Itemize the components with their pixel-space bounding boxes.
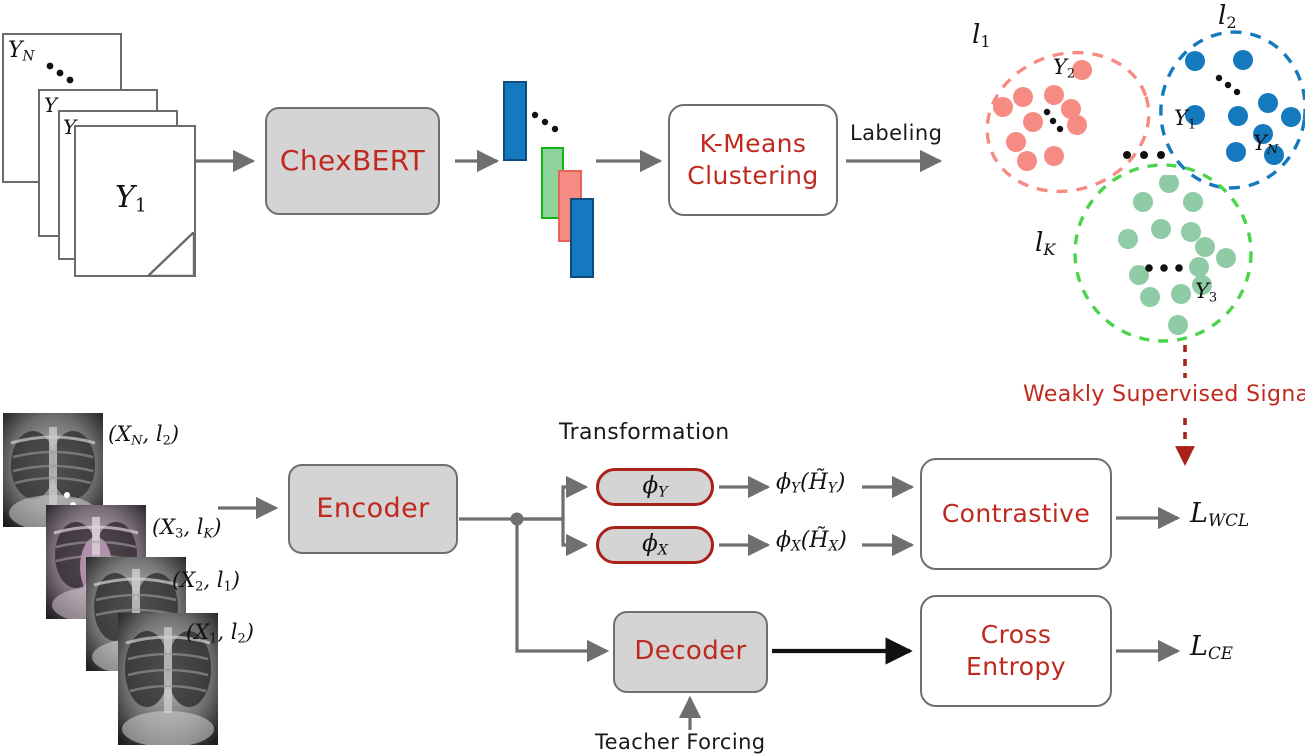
document-label-Y1: Y1 (115, 183, 147, 216)
encoder-label: Encoder (316, 494, 429, 524)
decoder-box[interactable]: Decoder (613, 611, 768, 693)
cluster-l1-point-label-Y2: Y2 (1053, 57, 1075, 80)
contrastive-box[interactable]: Contrastive (920, 458, 1112, 570)
kmeans-clustering-box[interactable]: K-Means Clustering (668, 104, 838, 216)
document-label-mid-2: Y (63, 117, 76, 137)
cluster-label-lK: lK (1035, 230, 1055, 258)
cluster-l2-point-label-YN: YN (1253, 133, 1278, 156)
decoder-label: Decoder (634, 637, 746, 666)
cluster-label-l1: l1 (972, 22, 991, 50)
teacher-forcing-label: Teacher Forcing (595, 731, 766, 753)
cluster-label-l2: l2 (1218, 3, 1237, 31)
xray-label-X1: (X1, l2) (186, 622, 254, 645)
document-label-YN: YN (8, 40, 34, 64)
xray-label-X3: (X3, lK) (152, 517, 221, 540)
encoder-box[interactable]: Encoder (288, 464, 458, 554)
weakly-supervised-signal-label: Weakly Supervised Signa (1023, 383, 1305, 408)
arrow-junction-to-phiX (517, 519, 586, 545)
cluster-lK-points (1085, 175, 1245, 335)
document-stack-ellipsis-icon (46, 60, 84, 88)
xray-label-X2: (X2, l1) (172, 570, 240, 593)
phi-x-box[interactable]: ϕX (596, 526, 714, 564)
cluster-lK-point-label-Y3: Y3 (1195, 281, 1217, 304)
bar-blue-bottom (570, 198, 594, 278)
phi-y-label: ϕY (642, 475, 667, 500)
clusters-ellipsis-icon (1122, 147, 1170, 163)
cluster-l2-point-label-Y1: Y1 (1174, 108, 1196, 131)
loss-ce-label: LCE (1190, 633, 1233, 662)
phi-y-box[interactable]: ϕY (596, 468, 714, 506)
phi-x-output-label: ϕX(H̃X) (776, 530, 847, 554)
kmeans-label-line1: K-Means (700, 130, 807, 158)
transformation-label: Transformation (559, 421, 730, 444)
labeling-label: Labeling (850, 122, 942, 144)
bars-ellipsis-icon (531, 110, 565, 138)
cross-entropy-label-line2: Entropy (966, 653, 1066, 681)
loss-wcl-label: LWCL (1190, 500, 1249, 529)
phi-y-output-label: ϕY(H̃Y) (776, 472, 845, 496)
document-fold-corner (148, 232, 194, 276)
architecture-diagram: YN Y Y Y1 ChexBERT K-Means Clustering La… (0, 0, 1305, 756)
arrow-junction-to-phiY (517, 487, 586, 519)
cross-entropy-label-line1: Cross (981, 621, 1052, 649)
chexbert-box[interactable]: ChexBERT (265, 107, 440, 215)
kmeans-label-line2: Clustering (687, 162, 818, 190)
xray-label-XN: (XN, l2) (108, 424, 179, 447)
contrastive-label: Contrastive (942, 500, 1090, 528)
bar-blue-top (503, 81, 527, 161)
chexbert-label: ChexBERT (280, 145, 425, 176)
cross-entropy-box[interactable]: Cross Entropy (920, 595, 1112, 707)
document-label-mid-1: Y (44, 95, 57, 115)
phi-x-label: ϕX (642, 533, 668, 558)
